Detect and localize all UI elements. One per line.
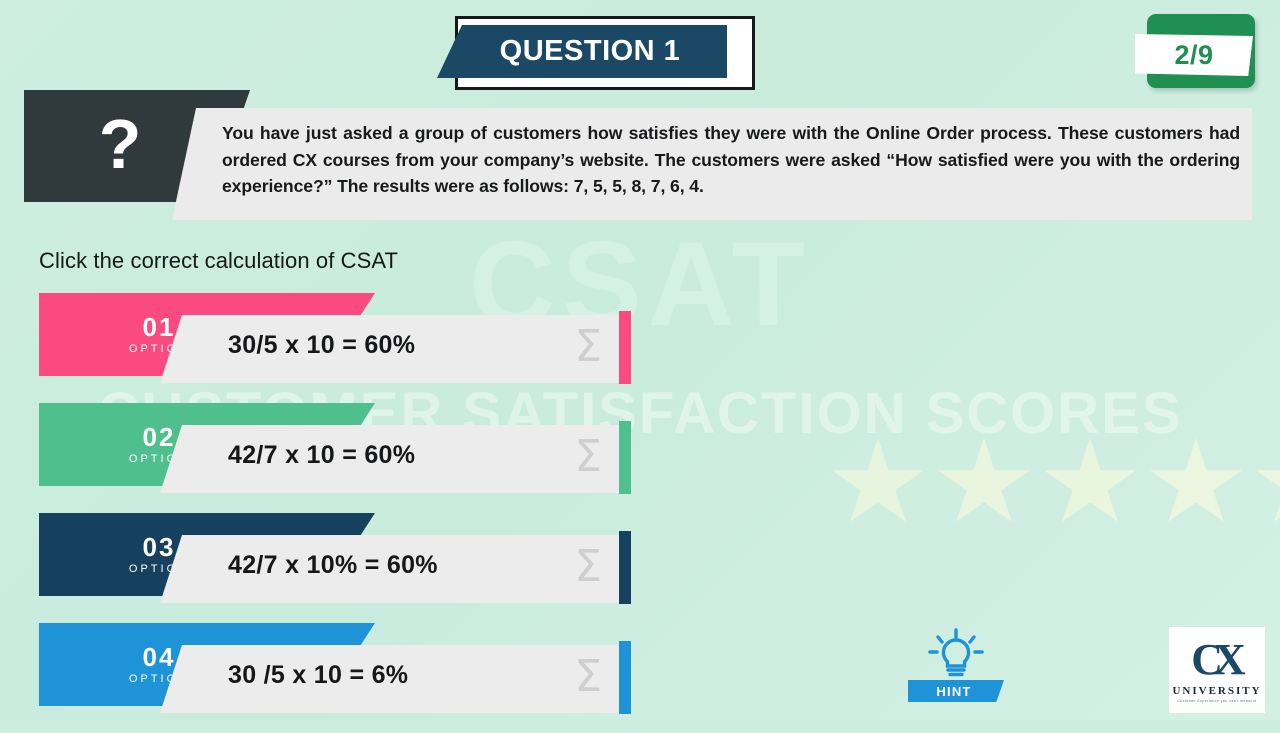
sigma-icon: Σ [574, 323, 602, 371]
option-answer-text: 42/7 x 10 = 60% [228, 441, 415, 470]
options-list: 01 OPTION 30/5 x 10 = 60% Σ 02 OPTION 42… [0, 293, 1280, 733]
option-accent-bar [619, 531, 631, 604]
progress-badge-text: 2/9 [1174, 40, 1213, 71]
option-answer-card[interactable]: 42/7 x 10 = 60% Σ [160, 425, 630, 493]
option-answer-card[interactable]: 42/7 x 10% = 60% Σ [160, 535, 630, 603]
option-answer-card[interactable]: 30 /5 x 10 = 6% Σ [160, 645, 630, 713]
sigma-icon: Σ [574, 433, 602, 481]
option-accent-bar [619, 311, 631, 384]
option-row[interactable]: 04 OPTION 30 /5 x 10 = 6% Σ [0, 623, 1280, 731]
option-answer-text: 30/5 x 10 = 60% [228, 331, 415, 360]
logo-monogram: CX [1191, 639, 1237, 681]
hint-label: HINT [936, 684, 971, 699]
option-row[interactable]: 02 OPTION 42/7 x 10 = 60% Σ [0, 403, 1280, 511]
logo-tagline: Customer Experience you can't measure [1177, 699, 1257, 703]
option-row[interactable]: 03 OPTION 42/7 x 10% = 60% Σ [0, 513, 1280, 621]
question-mark-icon: ? [99, 109, 142, 179]
question-text: You have just asked a group of customers… [222, 120, 1240, 200]
lightbulb-icon [924, 628, 988, 678]
option-accent-bar [619, 641, 631, 714]
question-banner: QUESTION 1 [437, 12, 755, 90]
option-answer-card[interactable]: 30/5 x 10 = 60% Σ [160, 315, 630, 383]
instruction-text: Click the correct calculation of CSAT [39, 248, 398, 274]
option-row[interactable]: 01 OPTION 30/5 x 10 = 60% Σ [0, 293, 1280, 401]
question-text-box: You have just asked a group of customers… [172, 108, 1252, 220]
sigma-icon: Σ [574, 543, 602, 591]
option-answer-text: 42/7 x 10% = 60% [228, 551, 438, 580]
option-accent-bar [619, 421, 631, 494]
question-title: QUESTION 1 [437, 25, 727, 78]
logo-name: UNIVERSITY [1172, 685, 1261, 697]
hint-button[interactable]: HINT [908, 628, 1004, 702]
sigma-icon: Σ [574, 653, 602, 701]
question-card: ? You have just asked a group of custome… [24, 90, 1252, 202]
hint-banner[interactable]: HINT [908, 680, 1004, 702]
progress-badge: 2/9 [1135, 10, 1260, 90]
option-answer-text: 30 /5 x 10 = 6% [228, 661, 408, 690]
logo: CX UNIVERSITY Customer Experience you ca… [1169, 627, 1265, 713]
progress-badge-ribbon: 2/9 [1135, 34, 1253, 76]
